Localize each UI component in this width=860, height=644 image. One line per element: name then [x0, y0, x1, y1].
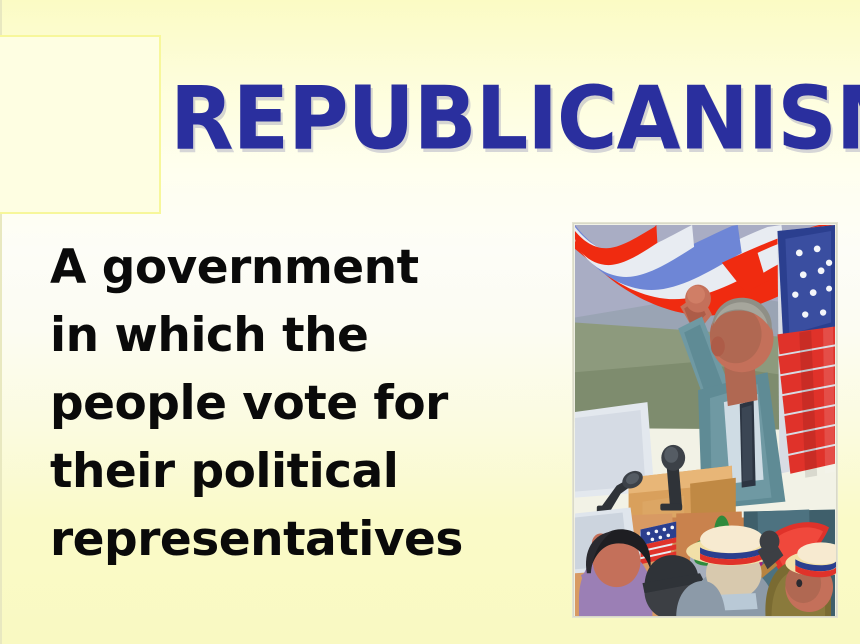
presentation-slide: REPUBLICANISM A government in which the … — [0, 0, 860, 644]
american-flag-vertical — [777, 225, 835, 478]
body-line: A government — [50, 234, 550, 302]
political-rally-clipart-image — [572, 222, 838, 618]
body-line: representatives — [50, 506, 550, 574]
body-line: in which the — [50, 302, 550, 370]
body-line: people vote for — [50, 370, 550, 438]
decorative-corner-box — [0, 35, 161, 214]
body-line: their political — [50, 438, 550, 506]
slide-body-text: A government in which the people vote fo… — [50, 234, 550, 574]
rally-illustration — [573, 223, 837, 617]
slide-title: REPUBLICANISM — [170, 68, 860, 174]
